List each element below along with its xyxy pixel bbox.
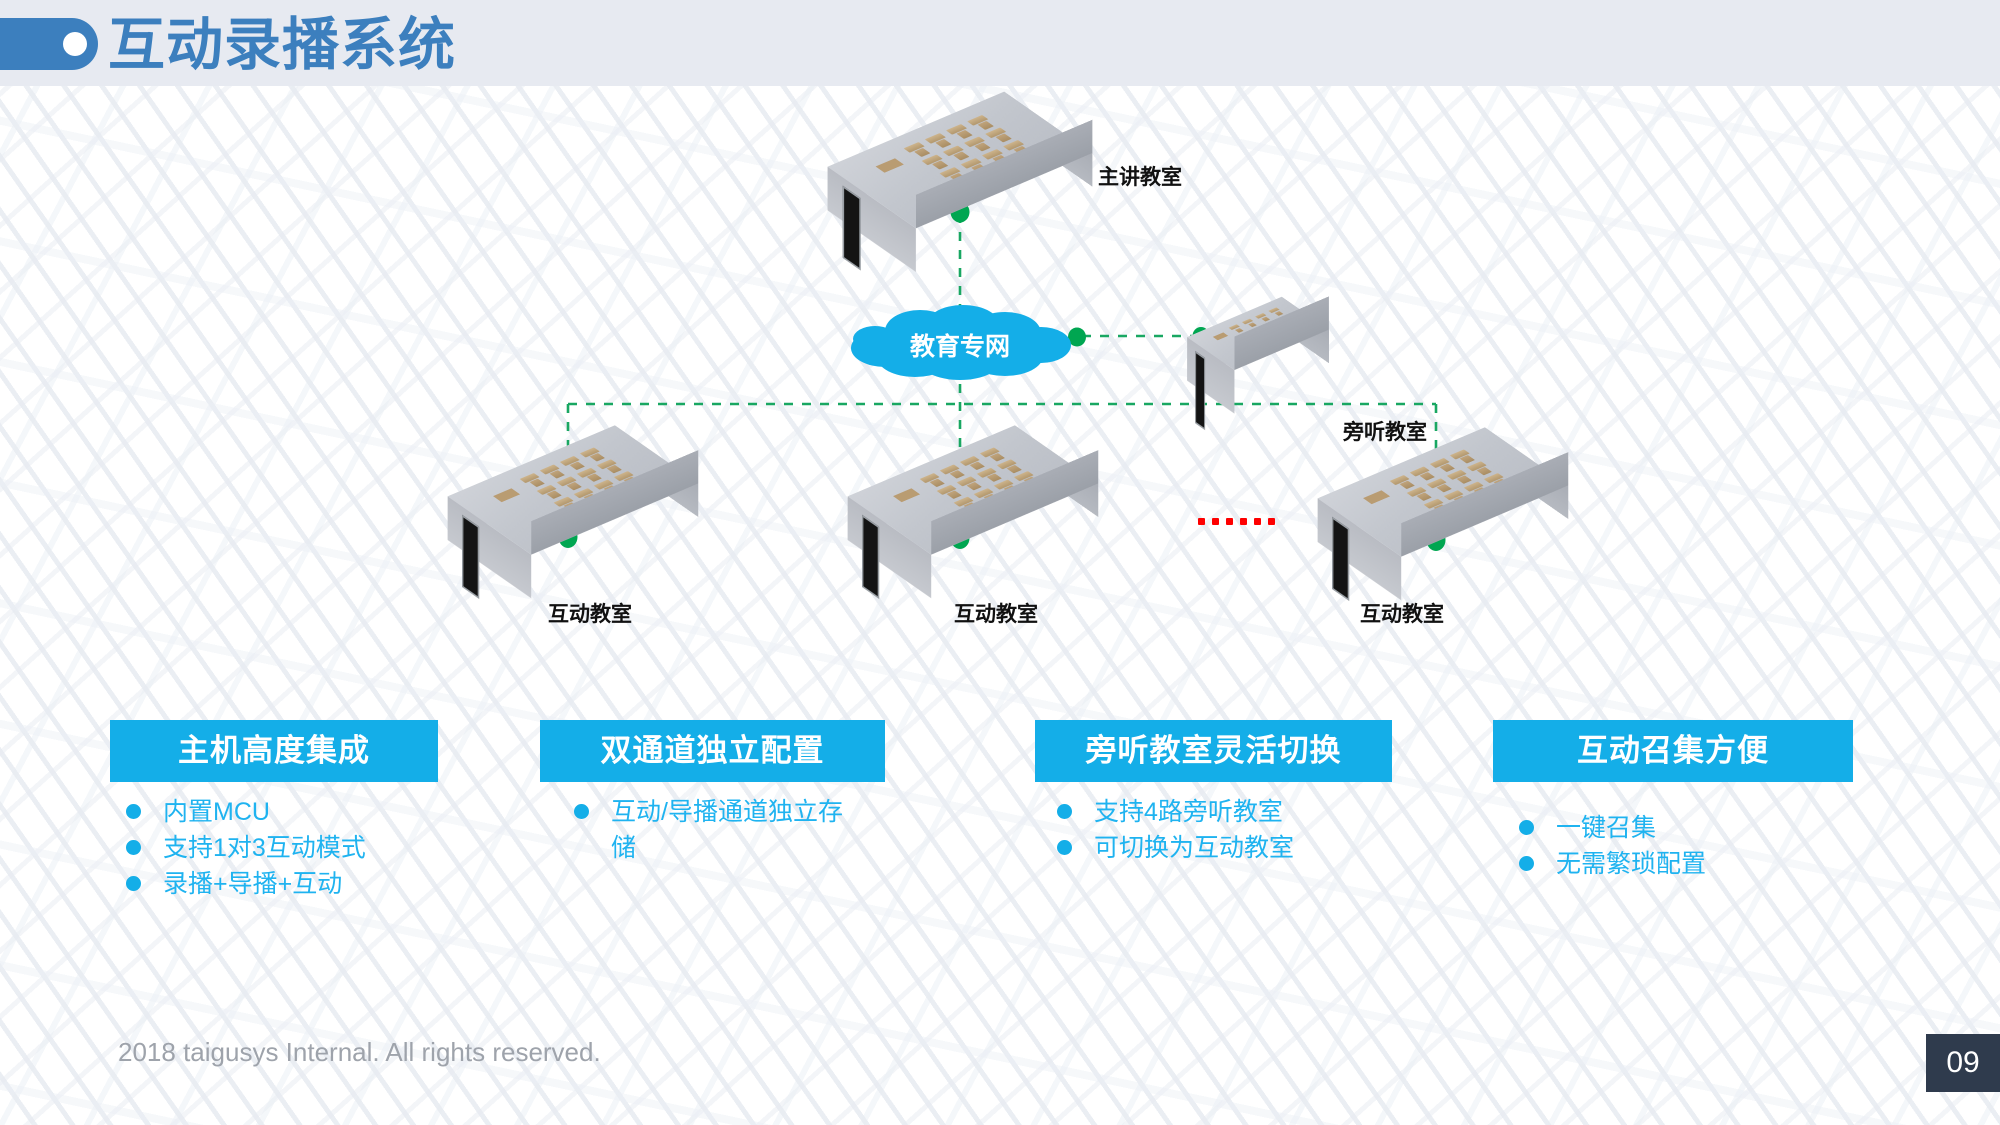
feature-bullet-list-1: 内置MCU 支持1对3互动模式 录播+导播+互动 bbox=[110, 794, 438, 902]
room-blackboard bbox=[862, 515, 879, 599]
education-network-cloud: 教育专网 bbox=[845, 301, 1075, 381]
feature-bullet-text: 互动/导播通道独立存储 bbox=[611, 794, 861, 866]
slide-canvas: 互动录播系统 bbox=[0, 0, 2000, 1125]
feature-bullet-item: 内置MCU bbox=[114, 794, 438, 830]
copyright-text: 2018 taigusys Internal. All rights reser… bbox=[118, 1037, 601, 1068]
classroom-render-interactive-3 bbox=[1325, 428, 1555, 548]
bullet-dot-icon bbox=[1519, 820, 1534, 835]
feature-bullet-item: 支持4路旁听教室 bbox=[1045, 794, 1392, 830]
room-blackboard bbox=[843, 186, 861, 271]
red-ellipsis-dots bbox=[1198, 518, 1275, 525]
feature-bullet-item: 一键召集 bbox=[1507, 810, 1853, 846]
feature-bullet-text: 支持1对3互动模式 bbox=[163, 830, 438, 866]
feature-bullet-text: 内置MCU bbox=[163, 794, 438, 830]
classroom-render-interactive-2 bbox=[855, 426, 1085, 546]
classroom-label-interactive-2: 互动教室 bbox=[954, 598, 1038, 628]
feature-title-3: 旁听教室灵活切换 bbox=[1035, 720, 1392, 782]
bullet-dot-icon bbox=[126, 804, 141, 819]
page-number-badge: 09 bbox=[1926, 1034, 2000, 1092]
feature-bullet-list-3: 支持4路旁听教室 可切换为互动教室 bbox=[1035, 794, 1392, 866]
classroom-render-interactive-1 bbox=[455, 426, 685, 546]
feature-bullet-item: 录播+导播+互动 bbox=[114, 866, 438, 902]
feature-card-4: 互动召集方便 一键召集 无需繁琐配置 bbox=[1493, 720, 1853, 882]
page-title: 互动录播系统 bbox=[108, 6, 456, 84]
ellipsis-dot bbox=[1268, 518, 1275, 525]
classroom-label-interactive-3: 互动教室 bbox=[1360, 598, 1444, 628]
feature-bullet-text: 录播+导播+互动 bbox=[163, 866, 438, 902]
feature-bullet-item: 无需繁琐配置 bbox=[1507, 846, 1853, 882]
cloud-label: 教育专网 bbox=[845, 327, 1075, 363]
ellipsis-dot bbox=[1254, 518, 1261, 525]
feature-bullet-item: 支持1对3互动模式 bbox=[114, 830, 438, 866]
feature-bullet-item: 互动/导播通道独立存储 bbox=[562, 794, 885, 866]
bullet-dot-icon bbox=[126, 876, 141, 891]
feature-card-3: 旁听教室灵活切换 支持4路旁听教室 可切换为互动教室 bbox=[1035, 720, 1392, 866]
ellipsis-dot bbox=[1212, 518, 1219, 525]
classroom-render-auditing bbox=[1185, 291, 1315, 361]
feature-bullet-item: 可切换为互动教室 bbox=[1045, 830, 1392, 866]
ellipsis-dot bbox=[1198, 518, 1205, 525]
feature-highlights: 主机高度集成 内置MCU 支持1对3互动模式 录播+导播+互动 双通道独立配置 bbox=[0, 720, 2000, 950]
classroom-label-main-lecture: 主讲教室 bbox=[1098, 161, 1182, 191]
classroom-label-interactive-1: 互动教室 bbox=[548, 598, 632, 628]
bullet-dot-icon bbox=[1057, 804, 1072, 819]
bullet-dot-icon bbox=[1519, 856, 1534, 871]
bullet-dot-icon bbox=[1057, 840, 1072, 855]
feature-bullet-list-4: 一键召集 无需繁琐配置 bbox=[1493, 810, 1853, 882]
feature-title-4: 互动召集方便 bbox=[1493, 720, 1853, 782]
classroom-render-main-lecture bbox=[840, 96, 1080, 216]
feature-bullet-text: 一键召集 bbox=[1556, 810, 1853, 846]
feature-card-2: 双通道独立配置 互动/导播通道独立存储 bbox=[540, 720, 885, 866]
feature-bullet-text: 可切换为互动教室 bbox=[1094, 830, 1392, 866]
classroom-label-auditing: 旁听教室 bbox=[1343, 416, 1427, 446]
room-blackboard bbox=[1332, 517, 1349, 601]
slide-header-bar: 互动录播系统 bbox=[0, 0, 2000, 86]
bullet-dot-icon bbox=[574, 804, 589, 819]
toggle-on-icon bbox=[0, 18, 98, 70]
network-topology-diagram: 教育专网 bbox=[0, 86, 2000, 706]
ellipsis-dot bbox=[1240, 518, 1247, 525]
feature-title-2: 双通道独立配置 bbox=[540, 720, 885, 782]
toggle-knob-icon bbox=[63, 32, 87, 56]
bullet-dot-icon bbox=[126, 840, 141, 855]
feature-bullet-text: 无需繁琐配置 bbox=[1556, 846, 1853, 882]
room-blackboard bbox=[462, 515, 479, 599]
feature-bullet-list-2: 互动/导播通道独立存储 bbox=[540, 794, 885, 866]
feature-card-1: 主机高度集成 内置MCU 支持1对3互动模式 录播+导播+互动 bbox=[110, 720, 438, 902]
feature-bullet-text: 支持4路旁听教室 bbox=[1094, 794, 1392, 830]
room-blackboard bbox=[1195, 351, 1205, 430]
ellipsis-dot bbox=[1226, 518, 1233, 525]
feature-title-1: 主机高度集成 bbox=[110, 720, 438, 782]
